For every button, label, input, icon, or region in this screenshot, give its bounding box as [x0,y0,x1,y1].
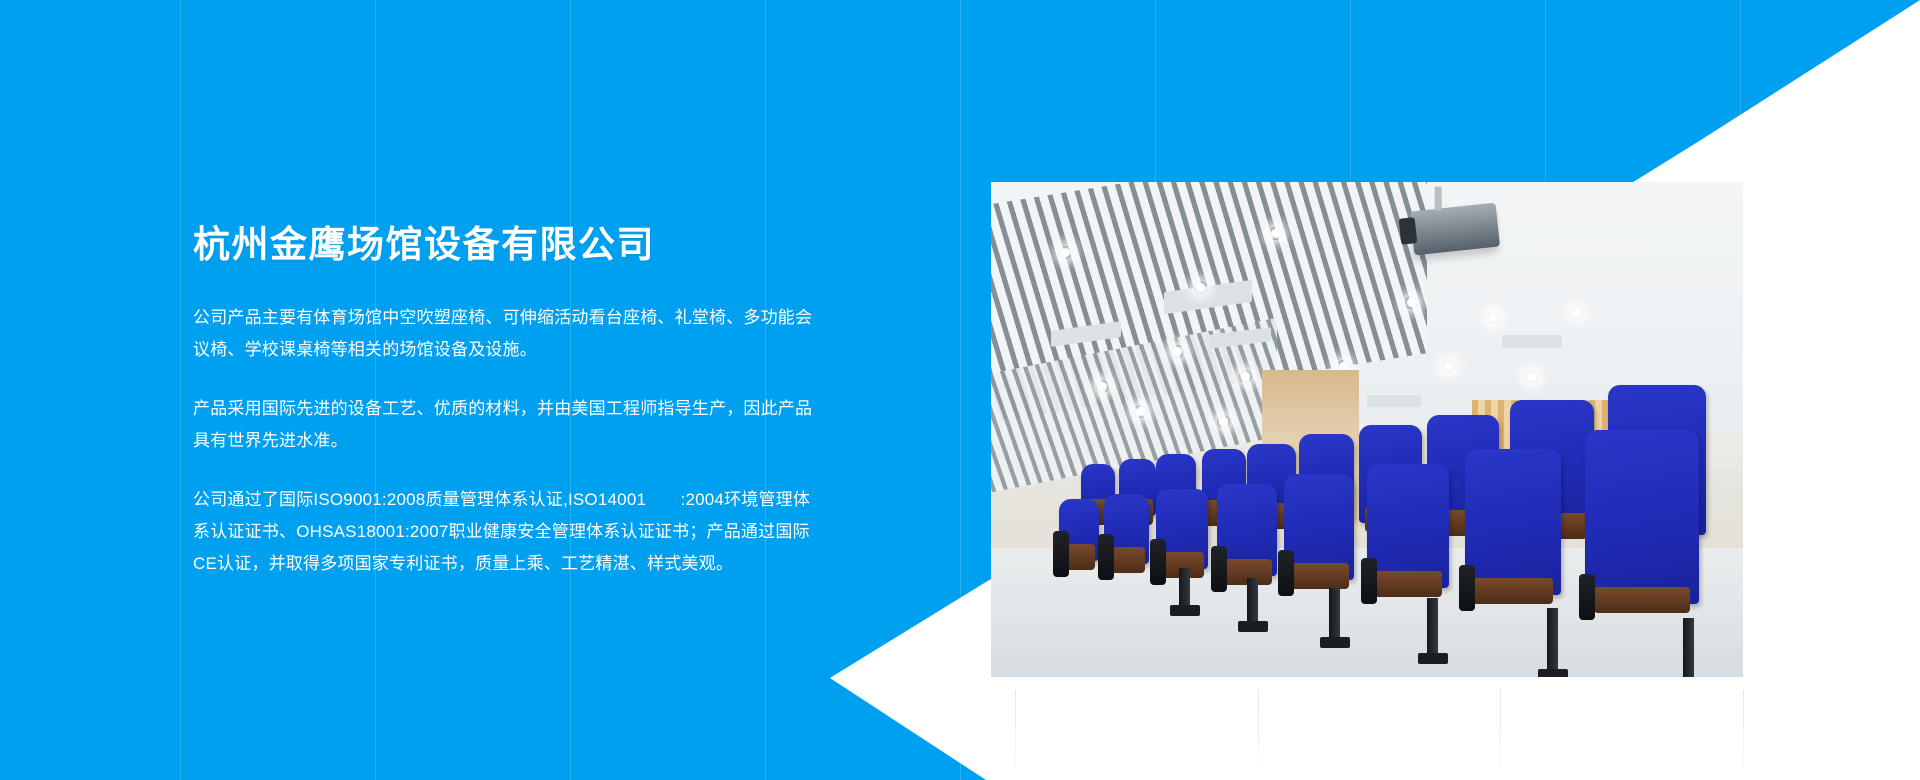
ceiling-vent-5 [1367,395,1421,407]
seat-leg [1329,588,1340,640]
ceiling-light-4 [1405,296,1418,309]
photo-scene [991,182,1743,677]
ceiling-vent-4 [1502,335,1562,348]
seat-leg [1683,618,1694,677]
page-title: 杭州金鹰场馆设备有限公司 [193,222,813,268]
paragraph-manufacturing: 产品采用国际先进的设备工艺、优质的材料，并由美国工程师指导生产，因此产品具有世界… [193,393,813,457]
seat-front-item [1104,494,1149,564]
seat-front-item [1284,474,1354,580]
ceiling-light-2 [1269,227,1282,240]
seat-leg [1427,598,1438,656]
ceiling-light-13 [1134,405,1147,418]
ceiling-light-5 [1487,311,1500,324]
seat-front-item [1217,484,1277,576]
banner-stage: 杭州金鹰场馆设备有限公司 公司产品主要有体育场馆中空吹塑座椅、可伸缩活动看台座椅… [0,0,1920,780]
paragraph-products: 公司产品主要有体育场馆中空吹塑座椅、可伸缩活动看台座椅、礼堂椅、多功能会议椅、学… [193,302,813,366]
ceiling-light-3 [1194,281,1207,294]
seat-leg [1547,608,1558,672]
seat-front-item [1585,430,1699,604]
seat-leg [1247,578,1258,624]
seat-leg [1179,568,1190,608]
seat-front-item [1059,499,1099,561]
ceiling-light-14 [1217,415,1230,428]
ceiling-light-1 [1059,246,1072,259]
company-copy-block: 杭州金鹰场馆设备有限公司 公司产品主要有体育场馆中空吹塑座椅、可伸缩活动看台座椅… [193,222,813,580]
ceiling-light-12 [1525,370,1538,383]
auditorium-photo [991,182,1743,677]
seat-front-item [1367,464,1449,588]
ceiling-light-6 [1570,306,1583,319]
seat-front-item [1156,489,1208,569]
seat-front-item [1465,449,1561,595]
ceiling-projector [1410,202,1500,255]
paragraph-certifications: 公司通过了国际ISO9001:2008质量管理体系认证,ISO14001 :20… [193,484,813,580]
